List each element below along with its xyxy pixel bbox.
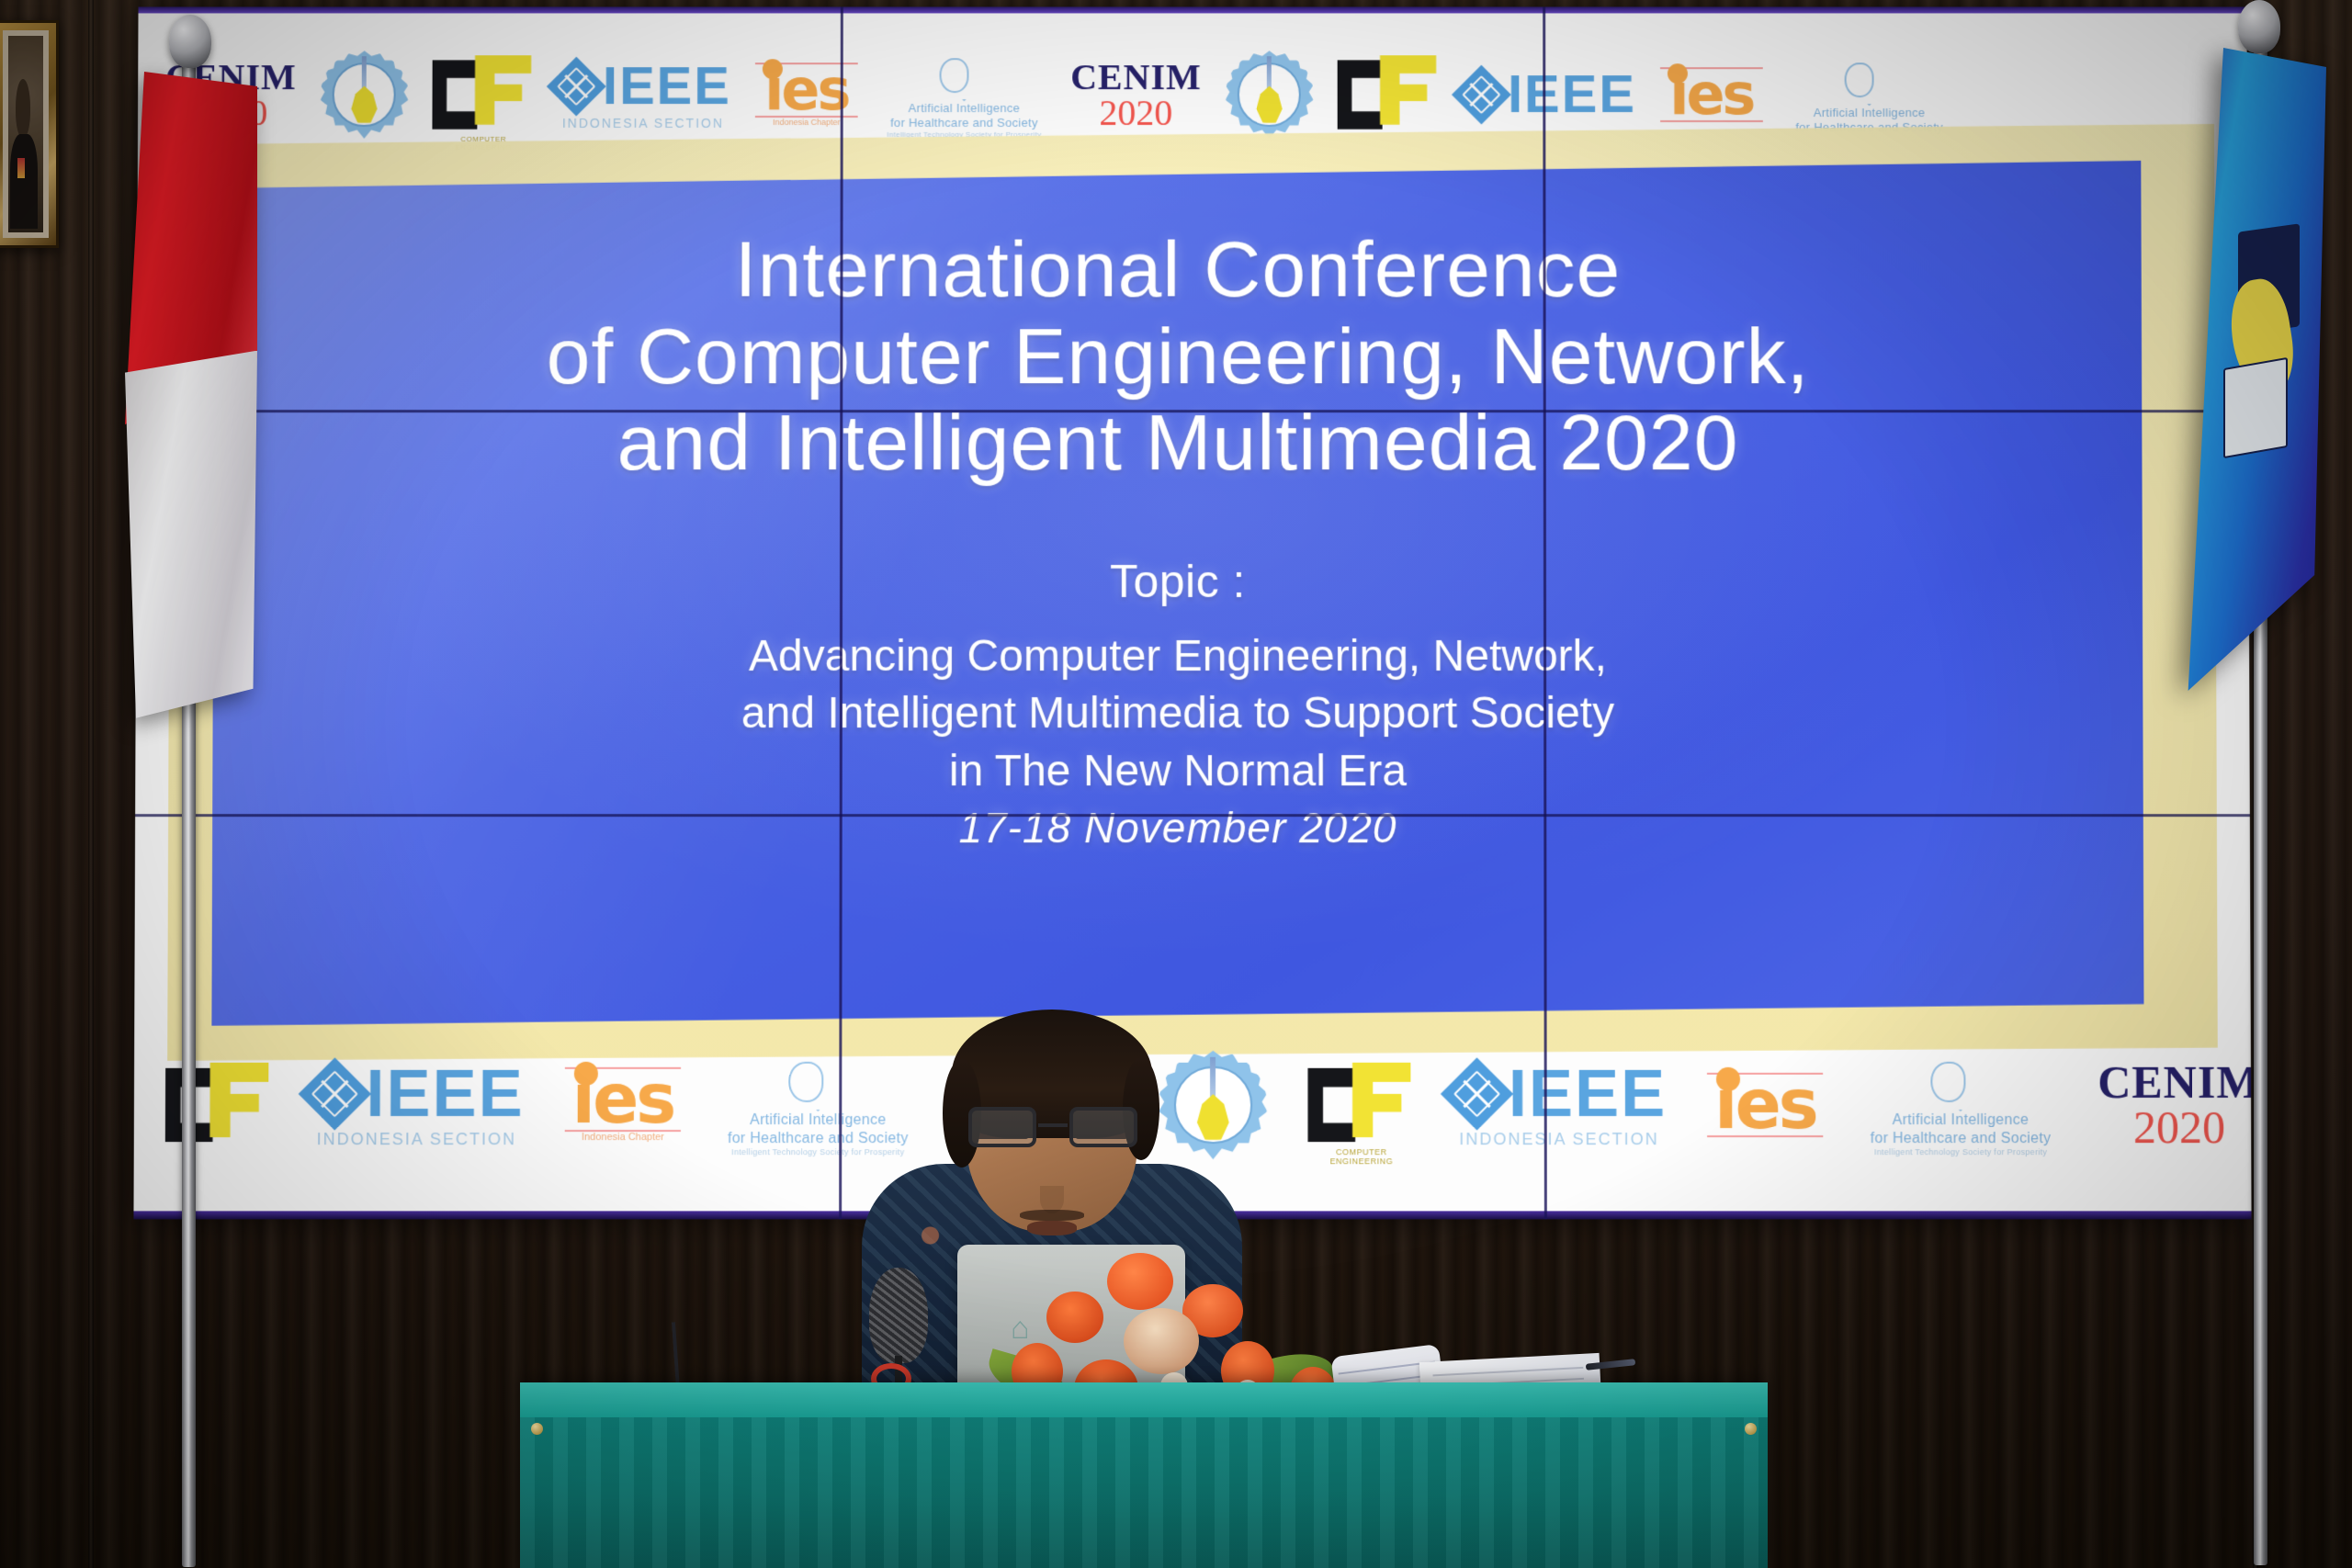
aihs-line2: for Healthcare and Society [890,116,1038,130]
ieee-section: INDONESIA SECTION [317,1130,517,1149]
slide-title-line3: and Intelligent Multimedia 2020 [213,400,2142,486]
portrait-mat [3,30,49,238]
ieee-diamond-icon [299,1057,371,1130]
computer-engineering-icon [165,1063,269,1147]
portrait-head [16,79,31,138]
videowall-top-bezel [139,6,2247,13]
aihs-line3: Intelligent Technology Society for Prosp… [731,1147,904,1157]
rose [1107,1253,1173,1310]
ies-logo: ies [1660,67,1763,122]
tablecloth-folds [520,1417,1768,1568]
ai-healthcare-logo: Artificial Intelligence for Healthcare a… [1864,1053,2058,1157]
presenter-table [520,1382,1768,1568]
slide-topic-line3: in The New Normal Era [212,743,2143,800]
ies-sun-icon [1716,1067,1740,1091]
ai-healthcare-logo: Artificial Intelligence for Healthcare a… [721,1053,915,1157]
cenim-name: CENIM [2098,1060,2252,1105]
ies-caption: Indonesia Chapter [582,1132,664,1143]
videowall-panel-seam [135,814,2250,817]
ieee-diamond-icon [1452,65,1511,125]
slide-title: International Conference of Computer Eng… [213,227,2142,487]
computer-engineering-icon: COMPUTER ENGINEERING [1308,1063,1411,1147]
cenim-name: CENIM [1070,59,1202,95]
microphone-windshield [869,1268,928,1363]
ieee-diamond-icon [1441,1057,1513,1130]
logo-cenim: CENIM 2020 [2098,1060,2252,1150]
portrait-medal [17,158,25,178]
conference-room-scene: CENIM 2020 COMPUTER ENGINEERING IEEE [0,0,2352,1568]
its-flag-emblem [2223,357,2288,458]
mouth [1027,1221,1077,1235]
rose [1046,1292,1103,1343]
rose-cream [1124,1308,1199,1374]
ai-healthcare-logo: Artificial Intelligence for Healthcare a… [882,51,1047,140]
aihs-line1: Artificial Intelligence [909,101,1021,116]
ieee-logo: IEEE INDONESIA SECTION [309,1061,525,1149]
flagpole-finial [169,15,211,68]
flagpole-finial [2238,0,2280,53]
presentation-slide: International Conference of Computer Eng… [211,161,2143,1026]
framed-portrait [0,20,59,248]
table-top-edge [520,1382,1768,1417]
slide-date: 17-18 November 2020 [212,803,2143,852]
ieee-logo: IEEE INDONESIA SECTION [1452,1061,1668,1149]
aihs-line3: Intelligent Technology Society for Prosp… [1874,1147,2047,1157]
ai-healthcare-logo: Artificial Intelligence for Healthcare a… [1787,54,1952,134]
glasses-lens [968,1107,1036,1147]
ieee-section: INDONESIA SECTION [1459,1130,1658,1149]
ieee-diamond-icon [547,56,606,116]
slide-title-line2: of Computer Engineering, Network, [214,313,2142,400]
cenim-year: 2020 [2098,1105,2251,1150]
slide-topic-line2: and Intelligent Multimedia to Support So… [212,685,2143,742]
ieee-section: INDONESIA SECTION [562,116,724,130]
videowall-panel-seam [137,410,2248,412]
aihs-line1: Artificial Intelligence [1893,1111,2030,1130]
ies-caption: Indonesia Chapter [773,118,840,127]
slide-topic: Advancing Computer Engineering, Network,… [212,628,2143,800]
slide-title-line1: International Conference [214,227,2142,313]
ieee-logo: IEEE [1460,68,1636,121]
brain-heart-icon [1840,54,1897,106]
aihs-line1: Artificial Intelligence [750,1111,887,1130]
ieee-wordmark: IEEE [1508,68,1636,121]
computer-engineering-icon [1337,55,1436,134]
ies-sun-icon [1668,63,1688,84]
glasses-bridge [1038,1123,1068,1127]
brain-heart-icon [935,51,992,102]
ieee-wordmark: IEEE [603,60,731,113]
slide-topic-label: Topic : [213,555,2143,608]
moustache [1020,1210,1084,1221]
indonesian-flag [119,72,257,705]
aihs-line1: Artificial Intelligence [1814,106,1926,120]
ce-caption: COMPUTER ENGINEERING [1312,1147,1411,1166]
wall-seam [88,0,94,1568]
slide-topic-line1: Advancing Computer Engineering, Network, [213,628,2143,685]
ies-logo: ies Indonesia Chapter [565,1067,681,1144]
portrait-body [10,134,38,229]
logo-cenim: CENIM 2020 [1070,59,1202,130]
brain-heart-icon [1927,1053,1995,1111]
glasses-lens [1069,1107,1137,1147]
aihs-line2: for Healthcare and Society [728,1130,909,1148]
tablecloth-grommet [531,1423,543,1435]
flag-white-band [119,351,257,718]
ieee-logo: IEEE INDONESIA SECTION [555,60,731,130]
computer-engineering-icon: COMPUTER ENGINEERING [432,55,531,134]
cenim-year: 2020 [1070,95,1202,130]
aihs-line2: for Healthcare and Society [1871,1130,2052,1148]
portrait-image [8,36,43,232]
its-gear-icon [320,51,408,139]
its-institutional-flag [2179,48,2326,691]
ieee-wordmark: IEEE [1509,1061,1667,1127]
ies-logo: ies [1707,1073,1823,1138]
eyeglasses [967,1107,1139,1149]
tablecloth-grommet [1745,1423,1757,1435]
ies-sun-icon [763,59,783,79]
ieee-wordmark: IEEE [366,1061,525,1127]
ies-sun-icon [574,1061,598,1085]
its-gear-icon [1226,51,1314,139]
